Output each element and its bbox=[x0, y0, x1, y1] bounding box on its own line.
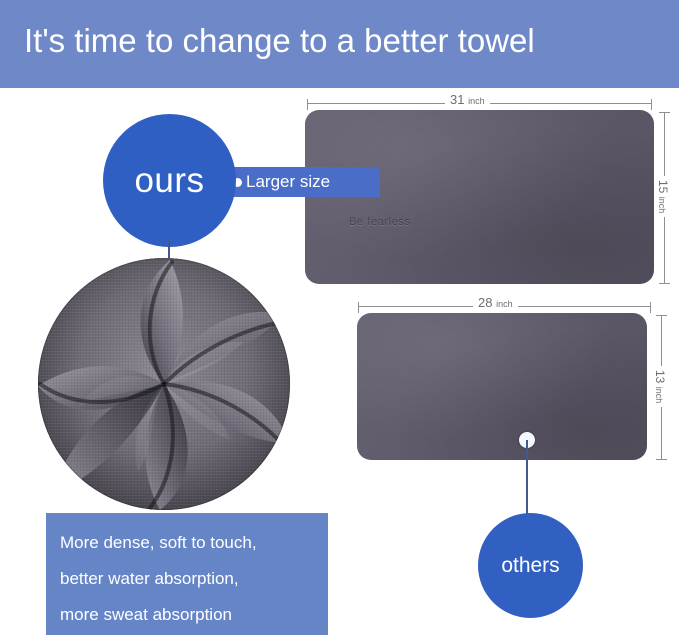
others-height-tick-bottom bbox=[656, 459, 667, 460]
others-badge: others bbox=[478, 513, 583, 618]
ours-width-label: 31 inch bbox=[445, 92, 490, 107]
ours-towel-image: Be fearless bbox=[305, 110, 654, 284]
benefits-panel: More dense, soft to touch, better water … bbox=[46, 513, 328, 635]
page-title: It's time to change to a better towel bbox=[24, 16, 535, 66]
ours-height-unit: inch bbox=[657, 197, 667, 214]
others-width-tick-right bbox=[650, 302, 651, 313]
larger-size-label: Larger size bbox=[246, 172, 330, 192]
microfiber-towel-photo bbox=[38, 258, 290, 510]
others-height-tick-top bbox=[656, 315, 667, 316]
ours-height-tick-top bbox=[659, 112, 670, 113]
others-width-label: 28 inch bbox=[473, 295, 518, 310]
others-width-tick-left bbox=[358, 302, 359, 313]
benefit-line-1: More dense, soft to touch, bbox=[60, 525, 314, 561]
towel-shading bbox=[305, 110, 654, 284]
others-height-label: 13 inch bbox=[651, 366, 669, 407]
others-height-value: 13 bbox=[653, 370, 667, 383]
ours-height-tick-bottom bbox=[659, 283, 670, 284]
benefit-line-2: better water absorption, bbox=[60, 561, 314, 597]
others-towel-image bbox=[357, 313, 647, 460]
towel-shading bbox=[357, 313, 647, 460]
ours-width-unit: inch bbox=[468, 96, 485, 106]
ours-height-value: 15 bbox=[656, 180, 670, 193]
infographic-page: It's time to change to a better towel Be… bbox=[0, 0, 679, 635]
others-connector-line bbox=[526, 440, 528, 516]
ours-width-value: 31 bbox=[450, 92, 464, 107]
ours-width-tick-right bbox=[651, 99, 652, 110]
towel-brand-emboss: Be fearless bbox=[349, 216, 411, 228]
ours-width-tick-left bbox=[307, 99, 308, 110]
others-width-value: 28 bbox=[478, 295, 492, 310]
others-width-unit: inch bbox=[496, 299, 513, 309]
ours-badge: ours bbox=[103, 114, 236, 247]
others-badge-label: others bbox=[501, 555, 559, 576]
ours-height-label: 15 inch bbox=[654, 176, 672, 217]
larger-size-callout: Larger size bbox=[225, 167, 380, 197]
others-height-unit: inch bbox=[654, 387, 664, 404]
ours-badge-label: ours bbox=[134, 163, 204, 198]
benefit-line-3: more sweat absorption bbox=[60, 597, 314, 633]
header-banner: It's time to change to a better towel bbox=[0, 0, 679, 88]
